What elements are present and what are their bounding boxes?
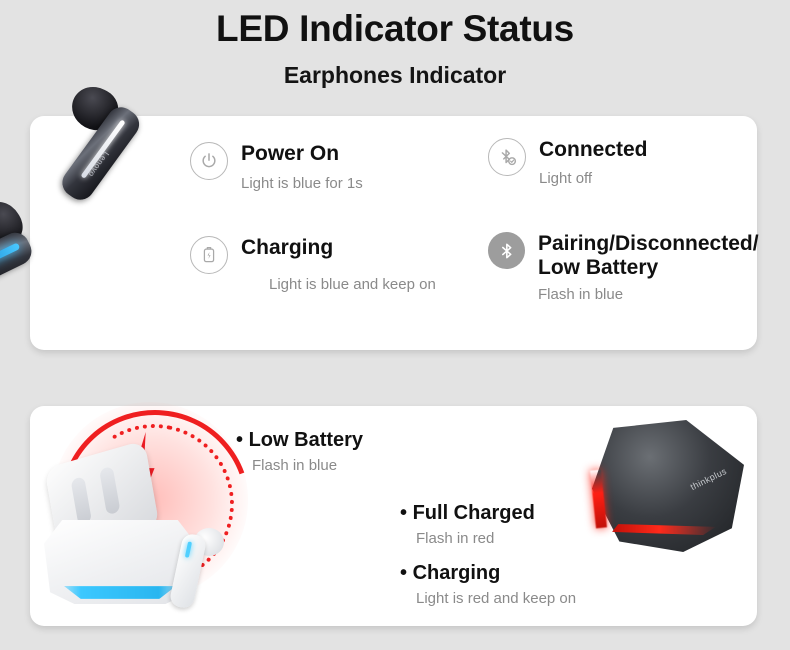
led-indicator-infographic: LED Indicator Status Earphones Indicator… [0,0,790,650]
bluetooth-check-icon [488,138,526,176]
indicator-detail: Light off [539,170,648,188]
bullet-icon: • [400,562,407,584]
case-indicator-label: • Charging [400,562,576,585]
indicator-label: Charging [241,236,436,260]
indicator-label: Pairing/Disconnected/ Low Battery [538,232,759,281]
battery-charging-icon [190,236,228,274]
case-indicator-label-text: Charging [413,562,501,584]
section-heading-earphones: Earphones Indicator [0,62,790,89]
case-indicator-label: • Full Charged [400,502,535,525]
page-title: LED Indicator Status [0,8,790,50]
indicator-row-connected: Connected Light off [488,138,648,188]
indicator-row-charging: Charging Light is blue and keep on [190,236,436,294]
bullet-icon: • [236,429,243,451]
earphones-indicator-card: Power On Light is blue for 1s Connected … [30,116,757,350]
case-indicator-row-charging: • Charging Light is red and keep on [400,562,576,607]
charging-case-indicator-card: • Low Battery Flash in blue • Full Charg… [30,406,757,626]
earbud-tip [0,194,30,255]
case-indicator-detail: Flash in blue [252,457,363,474]
indicator-detail: Light is blue for 1s [241,175,363,193]
case-indicator-label-text: Full Charged [413,502,535,524]
indicator-detail: Flash in blue [538,286,759,304]
indicator-row-power-on: Power On Light is blue for 1s [190,142,363,193]
indicator-label: Connected [539,138,648,162]
indicator-detail: Light is blue and keep on [269,276,436,294]
case-indicator-detail: Flash in red [416,530,535,547]
bullet-icon: • [400,502,407,524]
power-icon [190,142,228,180]
bluetooth-filled-icon [488,232,525,269]
indicator-row-pairing-disconnected-low-battery: Pairing/Disconnected/ Low Battery Flash … [488,232,759,304]
case-indicator-row-full-charged: • Full Charged Flash in red [400,502,535,547]
earbud-led-stripe-blue [0,242,20,268]
case-indicator-label-text: Low Battery [249,429,363,451]
indicator-label: Power On [241,142,363,166]
case-indicator-label: • Low Battery [236,429,363,452]
case-indicator-detail: Light is red and keep on [416,590,576,607]
case-indicator-row-low-battery: • Low Battery Flash in blue [236,429,363,474]
